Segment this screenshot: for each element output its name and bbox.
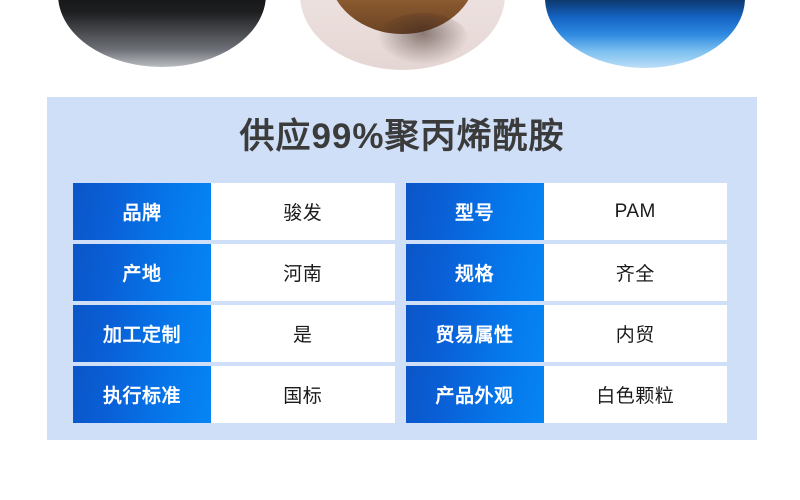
- spec-label-brand: 品牌: [73, 183, 211, 240]
- spec-label-appearance: 产品外观: [406, 366, 544, 423]
- page-title: 供应99%聚丙烯酰胺: [47, 115, 757, 159]
- product-photo-black-bowl: [58, 0, 266, 67]
- spec-pair-trade-type: 贸易属性 内贸: [406, 305, 728, 362]
- spec-pair-brand: 品牌 骏发: [73, 183, 395, 240]
- table-row: 产地 河南 规格 齐全: [73, 244, 727, 301]
- black-bowl-shape: [58, 0, 266, 67]
- spec-pair-model: 型号 PAM: [406, 183, 728, 240]
- spec-pair-specification: 规格 齐全: [406, 244, 728, 301]
- spec-pair-origin: 产地 河南: [73, 244, 395, 301]
- bowl-shadow: [378, 13, 468, 64]
- spec-label-model: 型号: [406, 183, 544, 240]
- spec-value-trade-type: 内贸: [544, 305, 728, 362]
- spec-label-standard: 执行标准: [73, 366, 211, 423]
- product-photo-strip: [0, 0, 800, 90]
- spec-value-standard: 国标: [211, 366, 395, 423]
- spec-value-specification: 齐全: [544, 244, 728, 301]
- spec-label-specification: 规格: [406, 244, 544, 301]
- spec-label-trade-type: 贸易属性: [406, 305, 544, 362]
- table-row: 执行标准 国标 产品外观 白色颗粒: [73, 366, 727, 423]
- spec-pair-standard: 执行标准 国标: [73, 366, 395, 423]
- spec-panel: 供应99%聚丙烯酰胺 品牌 骏发 型号 PAM 产地 河南 规格 齐全: [47, 97, 757, 440]
- spec-value-custom-processing: 是: [211, 305, 395, 362]
- product-photo-wooden-bowl: [300, 0, 505, 70]
- spec-value-model: PAM: [544, 183, 728, 240]
- spec-pair-appearance: 产品外观 白色颗粒: [406, 366, 728, 423]
- table-row: 加工定制 是 贸易属性 内贸: [73, 305, 727, 362]
- spec-value-brand: 骏发: [211, 183, 395, 240]
- product-photo-blue-water: [545, 0, 745, 68]
- table-row: 品牌 骏发 型号 PAM: [73, 183, 727, 240]
- spec-pair-custom-processing: 加工定制 是: [73, 305, 395, 362]
- spec-label-origin: 产地: [73, 244, 211, 301]
- spec-table: 品牌 骏发 型号 PAM 产地 河南 规格 齐全 加工定制 是: [73, 183, 727, 423]
- spec-value-appearance: 白色颗粒: [544, 366, 728, 423]
- spec-label-custom-processing: 加工定制: [73, 305, 211, 362]
- spec-value-origin: 河南: [211, 244, 395, 301]
